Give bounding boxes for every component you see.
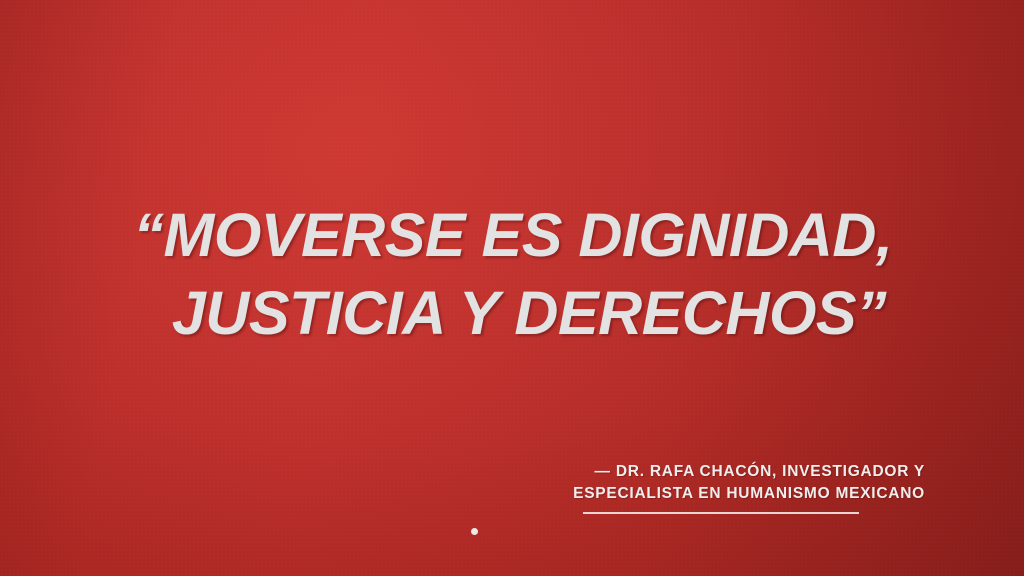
bullet-point-marker (471, 528, 478, 535)
attribution-line-2: ESPECIALISTA EN HUMANISMO MEXICANO (455, 483, 925, 505)
attribution-block: — DR. RAFA CHACÓN, INVESTIGADOR Y ESPECI… (455, 461, 925, 505)
attribution-line-1: — DR. RAFA CHACÓN, INVESTIGADOR Y (455, 461, 925, 483)
attribution-underline-rule (583, 512, 859, 514)
quote-line-1: “MOVERSE ES DIGNIDAD, (0, 196, 1024, 274)
quote-text-block: “MOVERSE ES DIGNIDAD, JUSTICIA Y DERECHO… (0, 196, 1024, 352)
quote-slide: “MOVERSE ES DIGNIDAD, JUSTICIA Y DERECHO… (0, 0, 1024, 576)
quote-line-2: JUSTICIA Y DERECHOS” (0, 274, 1024, 352)
